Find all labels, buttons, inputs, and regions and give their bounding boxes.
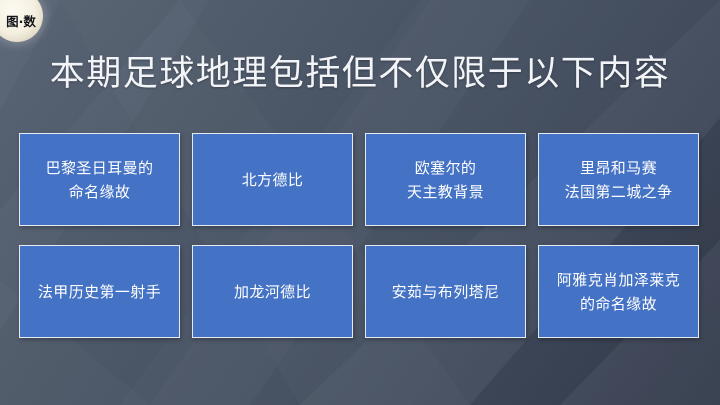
- topic-tile-1-line-1: 巴黎圣日耳曼的: [46, 156, 154, 180]
- topic-tile-8-line-1: 阿雅克肖加泽莱克: [557, 268, 680, 292]
- topic-tile-6-line-1: 加龙河德比: [234, 280, 311, 304]
- topic-tile-4-line-1: 里昂和马赛: [565, 156, 673, 180]
- topic-tile-5-line-1: 法甲历史第一射手: [38, 280, 161, 304]
- topic-tile-6[interactable]: 加龙河德比: [192, 245, 353, 338]
- topic-tile-2-line-1: 北方德比: [242, 168, 304, 192]
- topic-tile-1[interactable]: 巴黎圣日耳曼的 命名缘故: [19, 133, 180, 226]
- topic-tile-4[interactable]: 里昂和马赛 法国第二城之争: [538, 133, 699, 226]
- topic-tile-3-line-2: 天主教背景: [407, 180, 484, 204]
- topic-tile-2[interactable]: 北方德比: [192, 133, 353, 226]
- slide-title: 本期足球地理包括但不仅限于以下内容: [0, 52, 720, 96]
- topic-tile-3-line-1: 欧塞尔的: [407, 156, 484, 180]
- brand-logo-text: 图·数: [6, 11, 36, 30]
- topic-tile-8[interactable]: 阿雅克肖加泽莱克 的命名缘故: [538, 245, 699, 338]
- topic-tile-8-line-2: 的命名缘故: [557, 292, 680, 316]
- topic-tile-3[interactable]: 欧塞尔的 天主教背景: [365, 133, 526, 226]
- topic-tile-7[interactable]: 安茹与布列塔尼: [365, 245, 526, 338]
- topic-tile-1-line-2: 命名缘故: [46, 180, 154, 204]
- brand-logo: 图·数: [0, 0, 43, 42]
- topic-tile-5[interactable]: 法甲历史第一射手: [19, 245, 180, 338]
- topic-tile-grid: 巴黎圣日耳曼的 命名缘故 北方德比 欧塞尔的 天主教背景 里昂和马赛 法国第二城…: [19, 133, 701, 338]
- presentation-slide: 图·数 本期足球地理包括但不仅限于以下内容 巴黎圣日耳曼的 命名缘故 北方德比 …: [0, 0, 720, 405]
- topic-tile-4-line-2: 法国第二城之争: [565, 180, 673, 204]
- topic-tile-7-line-1: 安茹与布列塔尼: [392, 280, 500, 304]
